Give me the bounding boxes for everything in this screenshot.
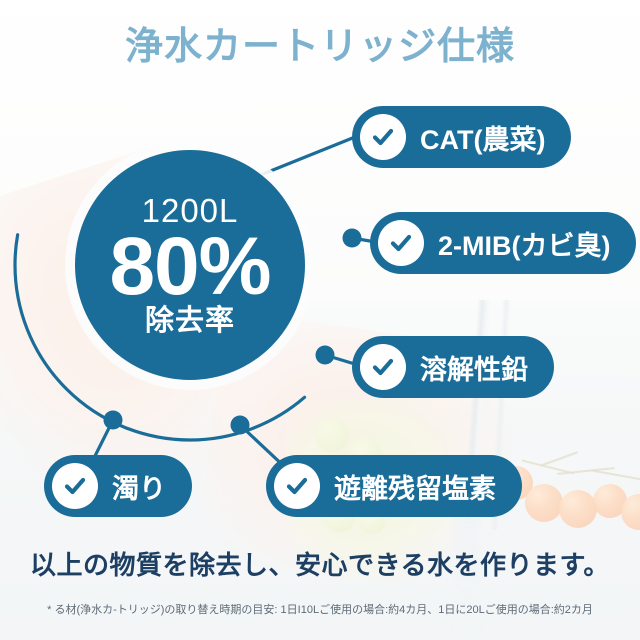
check-icon bbox=[274, 463, 320, 509]
node-dot-lead bbox=[316, 346, 335, 365]
feature-pill-label: 遊離残留塩素 bbox=[334, 467, 496, 506]
footnote-text: * る材(浄水カ-トリッジ)の取り替え時期の目安: 1日I10Lご使用の場合:約… bbox=[0, 601, 640, 617]
check-icon bbox=[360, 114, 406, 160]
check-icon bbox=[52, 463, 98, 509]
infographic-root: 浄水カートリッジ仕様 1200L 80% 除去率 CAT(農菜) 2-MIB( bbox=[0, 0, 640, 640]
summary-text: 以上の物質を除去し、安心できる水を作ります。 bbox=[0, 545, 640, 582]
center-badge: 1200L 80% 除去率 bbox=[75, 150, 305, 380]
badge-caption: 除去率 bbox=[145, 307, 235, 336]
feature-pill-turbidity[interactable]: 濁り bbox=[44, 455, 192, 517]
check-icon bbox=[378, 220, 424, 266]
feature-pill-free-residual-chlorine[interactable]: 遊離残留塩素 bbox=[266, 455, 522, 517]
badge-percent: 80% bbox=[109, 229, 270, 304]
feature-pill-cat[interactable]: CAT(農菜) bbox=[352, 106, 571, 168]
node-dot-turbidity bbox=[104, 411, 123, 430]
feature-pill-label: 2-MIB(カビ臭) bbox=[438, 224, 610, 263]
node-dot-mib bbox=[343, 229, 362, 248]
feature-pill-soluble-lead[interactable]: 溶解性鉛 bbox=[352, 336, 554, 398]
feature-pill-label: CAT(農菜) bbox=[420, 118, 545, 157]
feature-pill-label: 濁り bbox=[112, 467, 166, 506]
check-icon bbox=[360, 344, 406, 390]
node-dot-chlorine bbox=[231, 416, 250, 435]
feature-pill-label: 溶解性鉛 bbox=[420, 348, 528, 387]
feature-pill-2mib[interactable]: 2-MIB(カビ臭) bbox=[370, 212, 636, 274]
